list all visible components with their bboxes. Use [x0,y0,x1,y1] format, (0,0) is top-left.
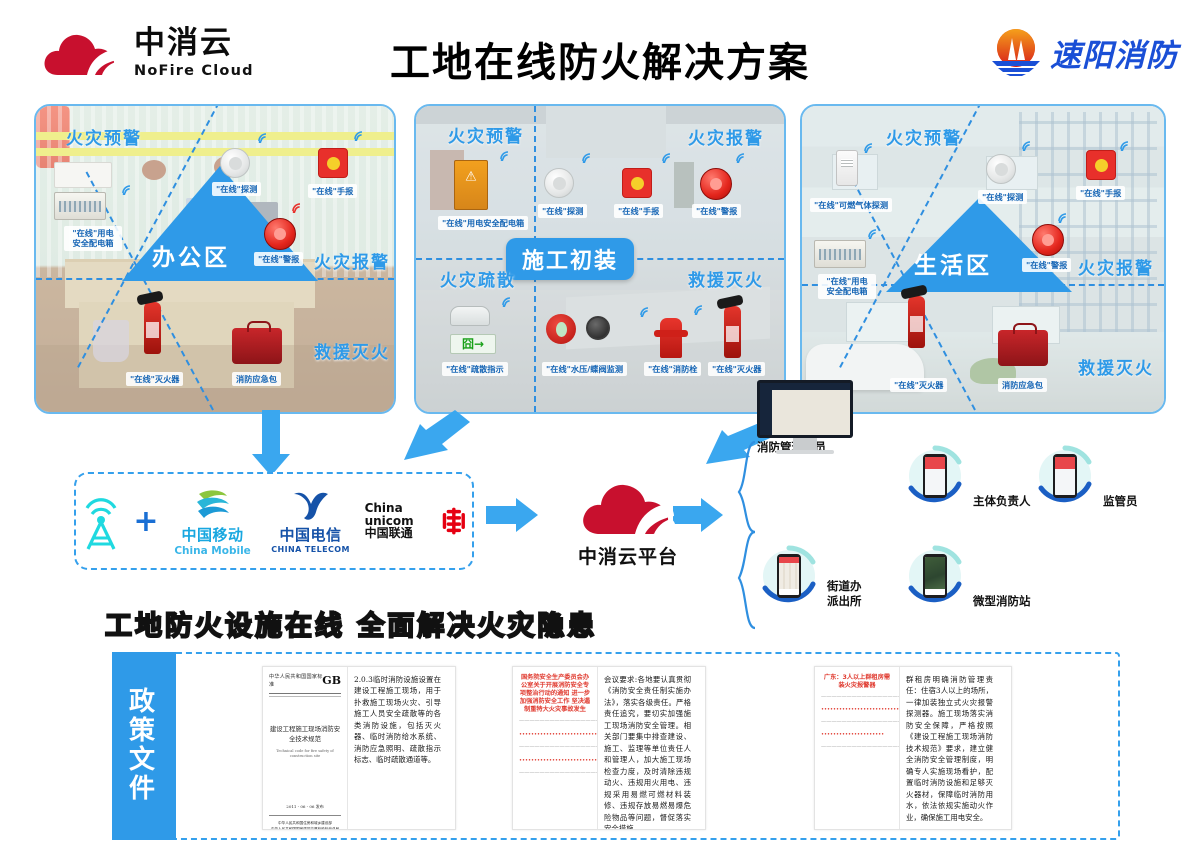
scene-panels: 办公区 火灾预警 火灾报警 救援灭火 "在线"用电 安全配电箱 "在线"探测 "… [0,104,1200,414]
device-manual-call-point [622,168,652,198]
device-label: "在线"探测 [538,204,587,218]
endpoint-micro-station: 微型消防站 [903,544,1031,608]
doc-headline: 国务院安全生产委员会办公室关于开展消防安全专项整治行动的通知 进一步加强消防安全… [519,674,591,714]
arrow-to-platform [486,498,542,538]
doc-cover: 国务院安全生产委员会办公室关于开展消防安全专项整治行动的通知 进一步加强消防安全… [513,667,597,829]
phone-icon [903,444,967,508]
brand-logo-right: 速阳消防 [990,28,1178,76]
device-label: "在线"水压/蝶阀监测 [542,362,627,376]
wifi-icon [662,152,675,163]
caption-rescue-living: 救援灭火 [1078,354,1154,379]
endpoint-principal: 主体负责人 [903,444,1031,508]
policy-doc-guangdong: 广东：3人以上群租房需装火灾报警器 ——————————————————————… [814,666,1012,830]
doc-footer: 中华人民共和国住房和城乡建设部 [269,821,341,827]
wifi-icon [500,150,513,161]
wifi-icon [864,142,877,153]
device-label: "在线"手报 [1076,186,1125,200]
zone-label-living: 生活区 [914,246,992,280]
carrier-china-unicom: China unicom 中国联通 [365,502,469,540]
device-emergency-bag [232,328,282,364]
device-smoke-detector [544,168,574,198]
device-label: "在线"消防栓 [644,362,701,376]
doc-reading-text: 群租房明确消防管理责任：住宿3人以上的场所，一律加装独立式火灾报警探测器。施工现… [906,674,993,823]
device-emergency-bag [998,330,1048,366]
carrier-name-cn: 中国联通 [365,527,436,540]
tagline: 工地防火设施在线 全面解决火灾隐患 [105,604,597,643]
device-smoke-detector [220,148,250,178]
endpoint-supervisor: 监管员 [1033,444,1138,508]
device-exit-sign: 囧→ [450,334,496,354]
wifi-icon [736,152,749,163]
page-header: 中消云 NoFire Cloud 工地在线防火解决方案 速阳消防 [0,0,1200,100]
policy-doc-meeting: 国务院安全生产委员会办公室关于开展消防安全专项整治行动的通知 进一步加强消防安全… [512,666,706,830]
partner-brand-name: 速阳消防 [1050,30,1178,75]
phone-icon [1033,444,1097,508]
caption-warn-construction: 火灾预警 [448,122,524,147]
device-distribution-box [454,160,488,210]
device-label: 消防应急包 [998,378,1047,392]
wifi-icon [640,306,653,317]
caption-alarm-construction: 火灾报警 [688,124,764,149]
device-label: "在线"用电安全配电箱 [438,216,528,230]
device-fire-extinguisher [908,296,925,348]
device-fire-hydrant [660,318,682,358]
device-smoke-detector [986,154,1016,184]
device-gas-detector [836,150,858,186]
device-label: "在线"警报 [1022,258,1071,272]
wifi-icon [868,228,881,239]
phone-icon [903,544,967,608]
monitor-icon [757,380,853,454]
device-label: 消防应急包 [232,372,281,386]
caption-rescue-construction: 救援灭火 [688,266,764,291]
zone-label-construction: 施工初装 [506,238,634,280]
doc-reading: 群租房明确消防管理责任：住宿3人以上的场所，一律加装独立式火灾报警探测器。施工现… [899,667,999,829]
device-distribution-box [814,240,866,268]
doc-cover: 中华人民共和国国家标准 GB 建设工程施工现场消防安全技术规范 Technica… [263,667,347,829]
wifi-icon [582,152,595,163]
device-label: "在线"用电 安全配电箱 [818,274,876,299]
doc-cover: 广东：3人以上群租房需装火灾报警器 ——————————————————————… [815,667,899,829]
wifi-icon [694,304,707,315]
device-label: "在线"手报 [614,204,663,218]
china-mobile-icon [193,486,233,524]
wifi-icon-alarm [292,202,305,213]
device-fire-extinguisher [724,306,741,358]
doc-reading-text: 2.0.3临时消防设施设置在建设工程施工现场，用于扑救施工现场火灾、引导施工人员… [354,674,441,766]
doc-date: 2011 - 06 - 06 发布 [269,804,341,810]
device-butterfly-valve [546,314,576,344]
doc-reading: 2.0.3临时消防设施设置在建设工程施工现场，用于扑救施工现场火灾、引导施工人员… [347,667,447,829]
caption-alarm-office: 火灾报警 [314,248,390,273]
wifi-icon [502,296,515,307]
device-siren [700,168,732,200]
caption-alarm-living: 火灾报警 [1078,254,1154,279]
wifi-icon [258,132,271,143]
scene-panel-living: 生活区 火灾预警 火灾报警 救援灭火 "在线"可燃气体探测 "在线"用电 安全配… [800,104,1166,414]
carrier-china-telecom: 中国电信 CHINA TELECOM [267,488,355,554]
policy-tab-char: 文 [129,746,159,775]
carrier-name-en: CHINA TELECOM [271,545,350,554]
network-carrier-box: + 中国移动 China Mobile 中国电信 CHINA TELECOM C… [74,472,474,570]
caption-warn-living: 火灾预警 [886,124,962,149]
china-telecom-icon [290,488,332,524]
carrier-china-mobile: 中国移动 China Mobile [169,486,257,557]
wifi-icon [1120,140,1133,151]
policy-tab-char: 件 [129,775,159,804]
endpoint-street-office: 街道办 派出所 [757,544,862,608]
device-label: "在线"疏散指示 [442,362,508,376]
device-label: "在线"灭火器 [708,362,765,376]
device-siren [1032,224,1064,256]
policy-tab-char: 政 [129,688,159,717]
device-siren [264,218,296,250]
device-label: "在线"警报 [254,252,303,266]
caption-warn-office: 火灾预警 [66,124,142,149]
zone-label-office: 办公区 [152,238,230,272]
scene-panel-construction: 施工初装 火灾预警 火灾报警 火灾疏散 救援灭火 "在线"用电安全配电箱 "在线… [414,104,786,414]
endpoint-fire-manager: 消防管理人员 [757,440,826,454]
device-label: "在线"手报 [308,184,357,198]
scene-panel-office: 办公区 火灾预警 火灾报警 救援灭火 "在线"用电 安全配电箱 "在线"探测 "… [34,104,396,414]
device-label: "在线"灭火器 [126,372,183,386]
endpoint-label: 监管员 [1103,494,1138,508]
phone-icon [757,544,821,608]
device-label: "在线"用电 安全配电箱 [64,226,122,251]
device-fire-extinguisher [144,302,161,354]
wifi-icon [122,184,135,195]
arrow-down-office [252,410,290,476]
doc-line: 中华人民共和国国家标准 [269,674,322,690]
endpoint-label: 街道办 派出所 [827,579,862,608]
doc-reading-text: 会议要求:各地要认真贯彻《消防安全责任制实施办法》，落实各级责任。严格责任追究，… [604,674,691,829]
caption-evac-construction: 火灾疏散 [440,266,516,291]
endpoint-group: 消防管理人员 主体负责人 监管员 [735,440,1195,630]
carrier-name-cn: 中国电信 [280,524,342,545]
doc-headline: 广东：3人以上群租房需装火灾报警器 [821,674,893,690]
policy-section-tab: 政 策 文 件 [112,652,176,840]
device-manual-call-point [1086,150,1116,180]
device-distribution-box [54,192,106,220]
platform-label: 中消云平台 [543,542,713,569]
china-unicom-icon [439,503,469,539]
cloud-icon [580,478,676,536]
device-emergency-light [450,306,490,326]
doc-subtitle: Technical code for fire safety of constr… [269,749,341,760]
brace-bracket [735,440,757,630]
wifi-icon [354,130,367,141]
endpoint-label: 微型消防站 [973,594,1031,608]
plus-symbol: + [133,504,158,539]
arrow-down-left-construction [404,410,470,460]
cloud-platform-node: 中消云平台 [543,478,713,569]
doc-reading: 会议要求:各地要认真贯彻《消防安全责任制实施办法》，落实各级责任。严格责任追究，… [597,667,697,829]
device-label: "在线"探测 [212,182,261,196]
carrier-name-cn: 中国移动 [182,524,244,545]
device-label: "在线"可燃气体探测 [810,198,892,212]
policy-doc-gb: 中华人民共和国国家标准 GB 建设工程施工现场消防安全技术规范 Technica… [262,666,456,830]
device-manual-call-point [318,148,348,178]
carrier-name-en: China Mobile [174,545,251,557]
policy-section: 政 策 文 件 中华人民共和国国家标准 GB 建设工程施工现场消防安全技术规范 … [112,652,1120,840]
doc-gb-mark: GB [322,674,341,687]
carrier-name-en: China unicom [365,502,436,527]
doc-title: 建设工程施工现场消防安全技术规范 [269,725,341,745]
endpoint-label: 主体负责人 [973,494,1031,508]
device-label: "在线"警报 [692,204,741,218]
wifi-icon [1058,212,1071,223]
sun-boat-icon [990,28,1042,76]
device-pressure-gauge [586,316,610,340]
device-label: "在线"探测 [978,190,1027,204]
device-label: "在线"灭火器 [890,378,947,392]
policy-tab-char: 策 [129,717,159,746]
wifi-icon [1022,140,1035,151]
doc-footer: 中华人民共和国国家质量监督检验检疫总局 联合发布 [269,827,341,830]
caption-rescue-office: 救援灭火 [314,338,390,363]
signal-tower-icon [79,492,123,550]
